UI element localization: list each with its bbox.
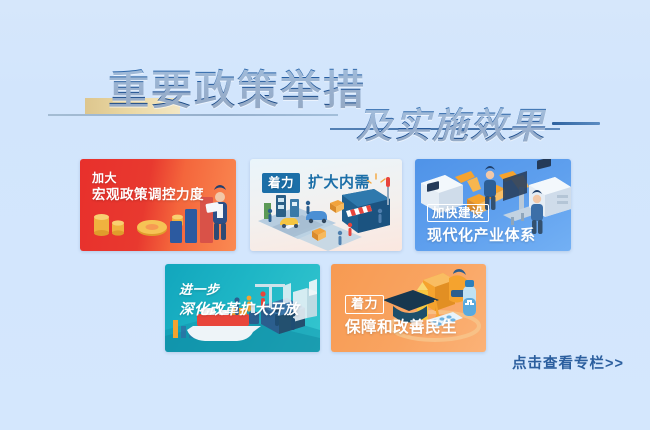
card-caption-line2: 深化改革扩大开放: [179, 301, 299, 320]
card-caption: 进一步 深化改革扩大开放: [179, 282, 299, 319]
card-caption-line2: 宏观政策调控力度: [92, 186, 204, 203]
card-caption-line2: 现代化产业体系: [427, 226, 536, 245]
card-caption-line1: 加大: [92, 171, 204, 186]
view-column-link[interactable]: 点击查看专栏>>: [512, 352, 624, 373]
card-modern-industry[interactable]: 加快建设 现代化产业体系: [415, 159, 571, 251]
page-title-line1: 重要政策举措: [108, 68, 366, 112]
card-macro-policy[interactable]: 加大 宏观政策调控力度: [80, 159, 236, 251]
card-caption-line2: 保障和改善民生: [345, 318, 457, 338]
title-tail-dash: [552, 122, 600, 125]
title-rule-left: [48, 114, 338, 116]
card-livelihood[interactable]: 着力 保障和改善民生: [331, 264, 486, 352]
card-reform-opening[interactable]: 进一步 深化改革扩大开放: [165, 264, 320, 352]
card-caption-line1: 进一步: [179, 282, 299, 299]
title-block: 重要政策举措 及实施效果: [0, 52, 650, 152]
card-caption-line1: 着力: [262, 173, 300, 193]
card-caption: 加大 宏观政策调控力度: [92, 171, 204, 204]
banner-root: 重要政策举措 及实施效果: [0, 0, 650, 430]
card-domestic-demand[interactable]: 着力 扩大内需: [250, 159, 402, 251]
card-caption: 着力 保障和改善民生: [345, 294, 457, 338]
card-caption-line1: 加快建设: [427, 204, 489, 222]
page-title-line2: 及实施效果: [356, 106, 546, 146]
card-caption-line1: 着力: [345, 295, 384, 314]
card-caption: 着力 扩大内需: [262, 173, 370, 193]
card-caption-line2: 扩大内需: [308, 173, 370, 192]
card-caption: 加快建设 现代化产业体系: [427, 203, 536, 246]
